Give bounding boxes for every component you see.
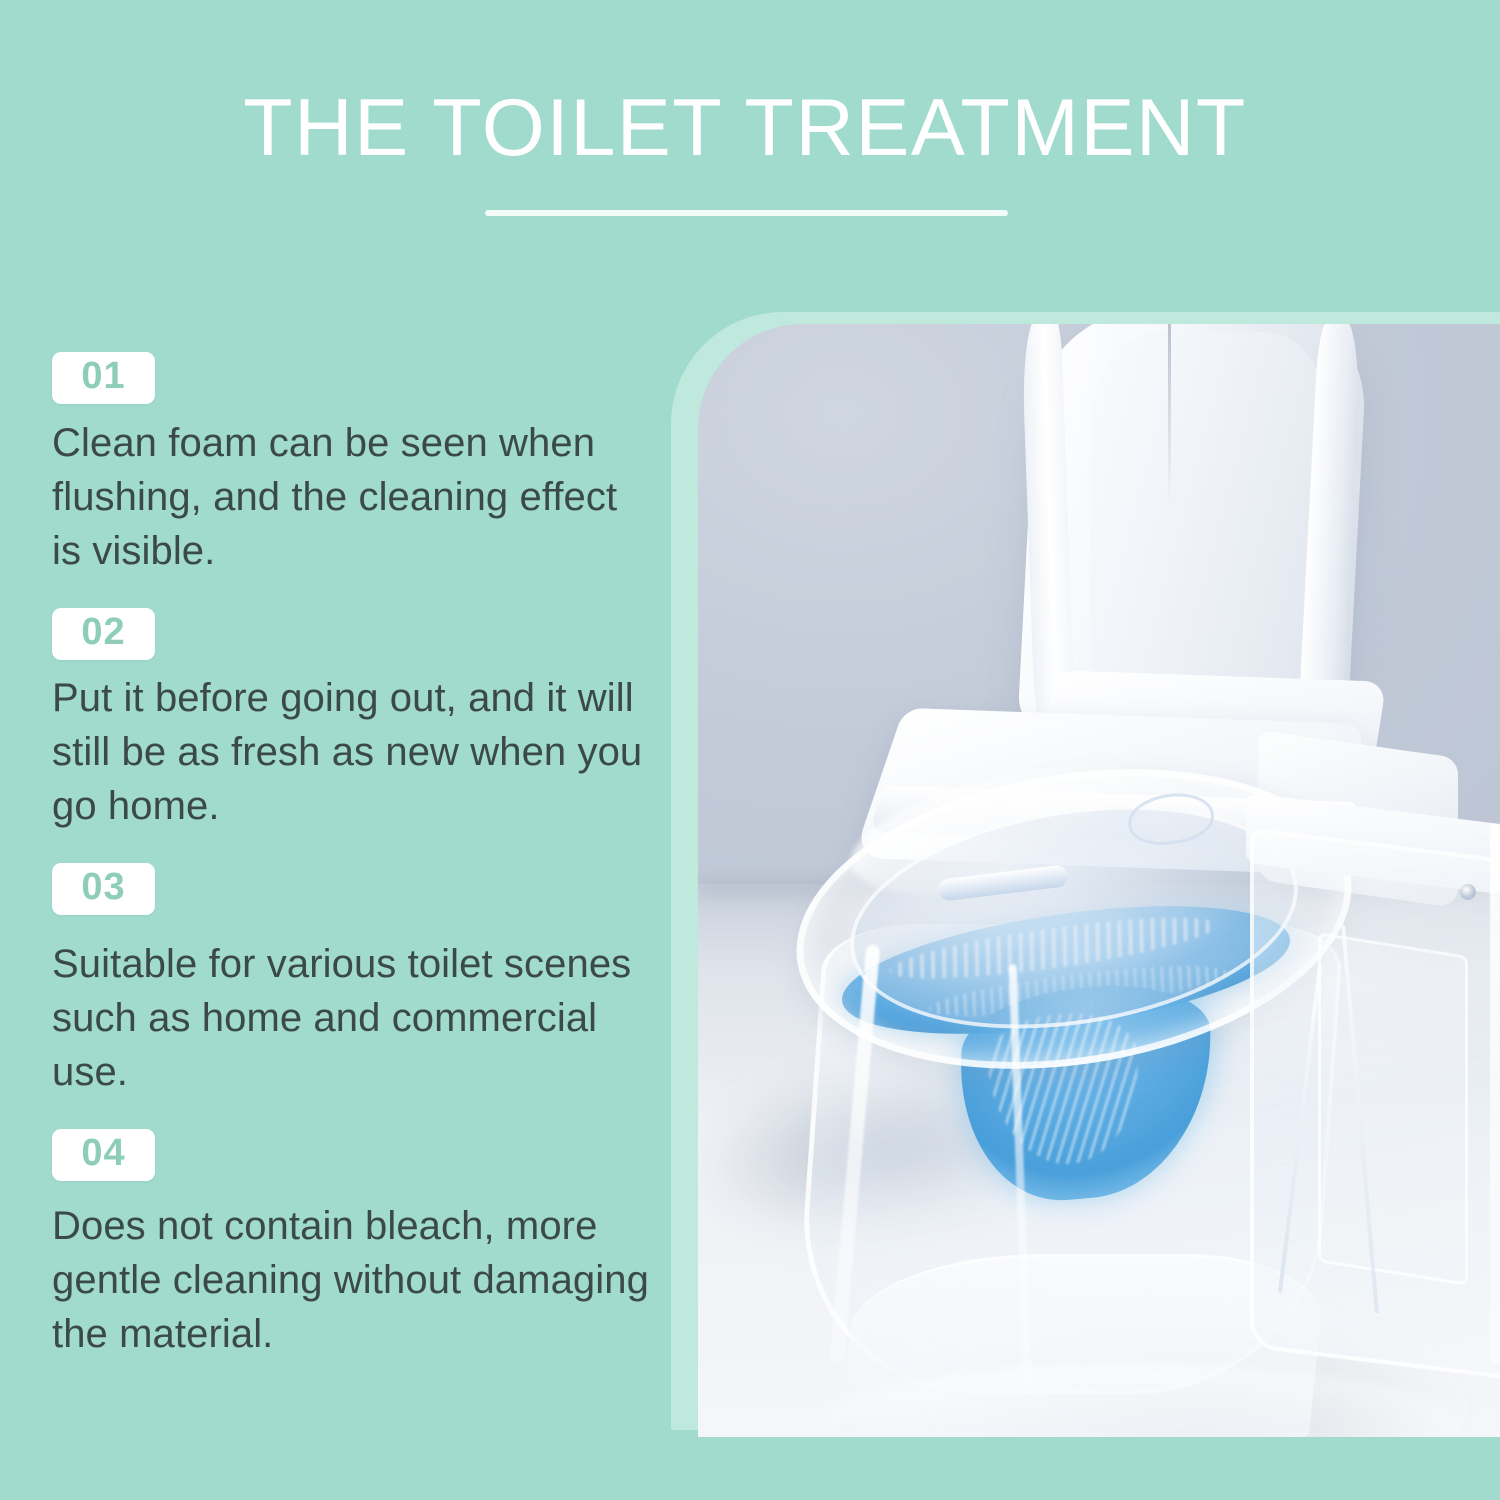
- feature-item: 02 Put it before going out, and it will …: [52, 608, 662, 833]
- tank-fitting-knob: [1460, 884, 1476, 900]
- feature-number-badge: 01: [52, 352, 155, 404]
- toilet-lid-seam: [1168, 324, 1171, 504]
- page-title: THE TOILET TREATMENT: [0, 88, 1490, 169]
- tank-inner-panel: [1318, 932, 1468, 1286]
- header: THE TOILET TREATMENT: [0, 0, 1500, 250]
- feature-description: Clean foam can be seen when flushing, an…: [52, 416, 652, 578]
- product-photo-panel: [671, 312, 1500, 1437]
- feature-item: 04 Does not contain bleach, more gentle …: [52, 1129, 662, 1361]
- title-divider: [485, 210, 1008, 216]
- feature-description: Put it before going out, and it will sti…: [52, 671, 652, 833]
- feature-description: Suitable for various toilet scenes such …: [52, 937, 652, 1099]
- feature-number-badge: 03: [52, 863, 155, 915]
- feature-number-badge: 04: [52, 1129, 155, 1181]
- feature-number-badge: 02: [52, 608, 155, 660]
- tank-edge-highlight: [1490, 823, 1500, 1364]
- product-photo: [698, 324, 1500, 1437]
- feature-item: 01 Clean foam can be seen when flushing,…: [52, 352, 662, 578]
- feature-item: 03 Suitable for various toilet scenes su…: [52, 863, 662, 1099]
- feature-list: 01 Clean foam can be seen when flushing,…: [52, 352, 662, 1365]
- feature-description: Does not contain bleach, more gentle cle…: [52, 1199, 652, 1361]
